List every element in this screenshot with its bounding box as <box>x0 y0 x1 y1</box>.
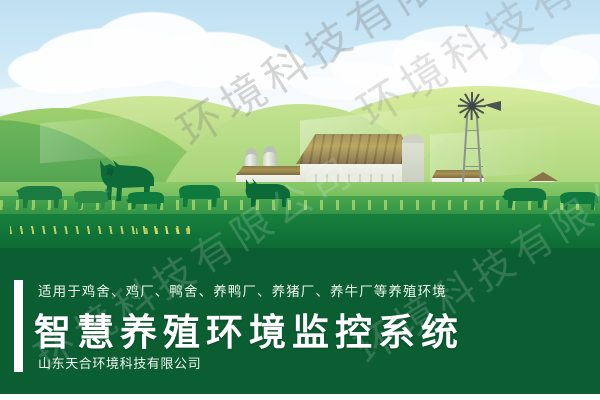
banner-subtitle: 适用于鸡舍、鸡厂、鸭舍、养鸭厂、养猪厂、养牛厂等养殖环境 <box>38 280 447 300</box>
cow-right <box>240 176 292 210</box>
cow-calf <box>72 186 110 212</box>
cow-grazing <box>122 188 166 212</box>
cow-far-right <box>500 184 548 210</box>
company-name: 山东天合环境科技有限公司 <box>38 353 201 372</box>
cow-left <box>14 181 64 211</box>
poster-root: 环境科技有限公司 环境科技有限公司 环境科技有限公司 环境科技有限公司 适用于鸡… <box>0 0 600 400</box>
bottom-strip <box>0 394 600 400</box>
scene-illustration: 环境科技有限公司 环境科技有限公司 <box>0 0 600 248</box>
cow-mid <box>176 180 222 210</box>
title-banner: 环境科技有限公司 环境科技有限公司 适用于鸡舍、鸡厂、鸭舍、养鸭厂、养猪厂、养牛… <box>0 248 600 394</box>
cow-edge-right <box>556 188 600 212</box>
page-title: 智慧养殖环境监控系统 <box>34 302 464 356</box>
accent-bar <box>14 280 23 372</box>
